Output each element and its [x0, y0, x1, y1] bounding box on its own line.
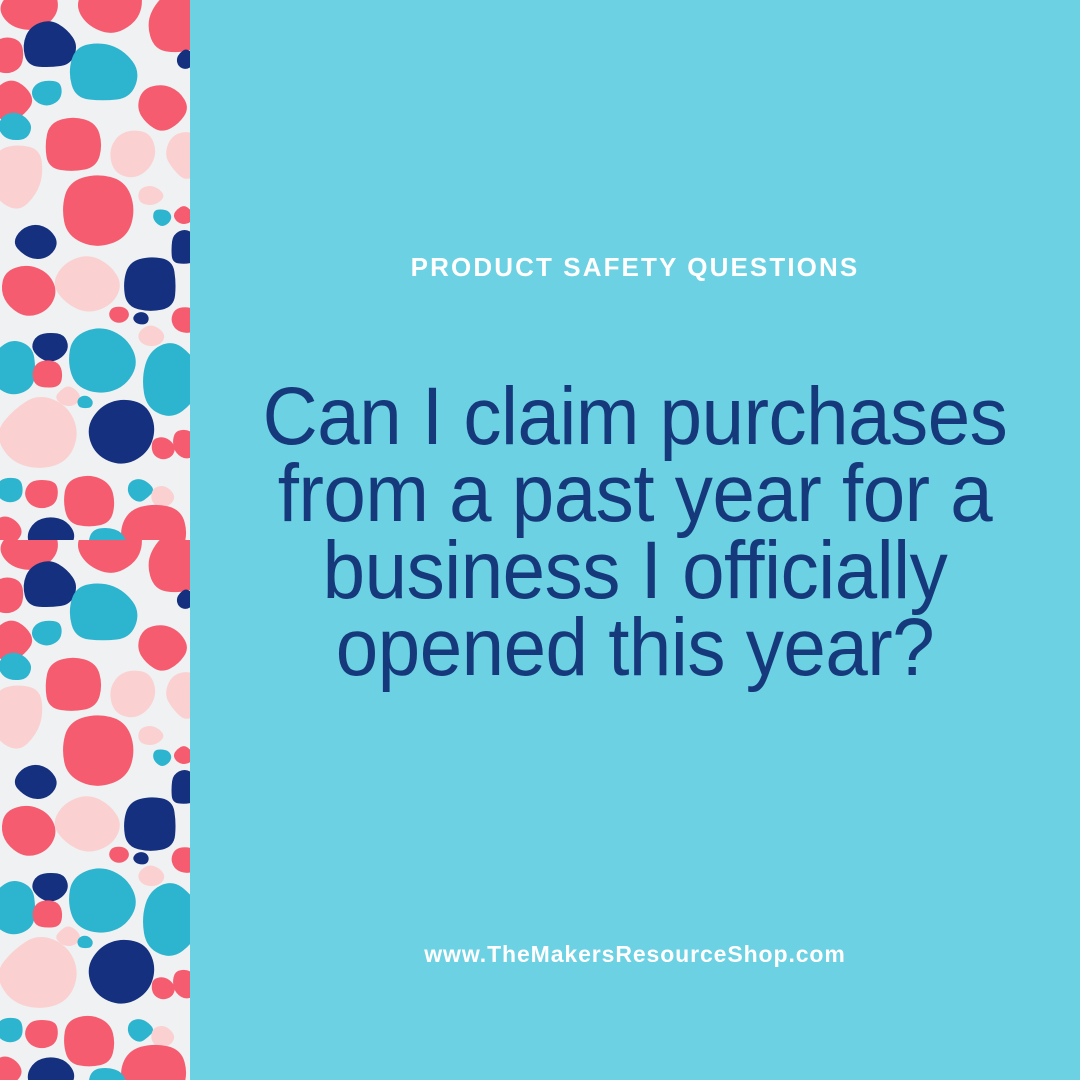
website-url-footer[interactable]: www.TheMakersResourceShop.com	[190, 940, 1080, 968]
category-eyebrow-label: PRODUCT SAFETY QUESTIONS	[190, 252, 1080, 282]
headline-line-2: from a past year for a	[240, 455, 1031, 532]
headline-line-3: business I officially	[240, 532, 1031, 609]
decorative-pattern-strip	[0, 0, 190, 1080]
headline-line-1: Can I claim purchases	[240, 378, 1031, 455]
social-post-canvas: PRODUCT SAFETY QUESTIONS Can I claim pur…	[0, 0, 1080, 1080]
pattern-tile	[0, 540, 190, 1080]
pattern-tile	[0, 0, 190, 540]
headline-question: Can I claim purchases from a past year f…	[240, 378, 1031, 686]
headline-line-4: opened this year?	[240, 609, 1031, 686]
content-column: PRODUCT SAFETY QUESTIONS Can I claim pur…	[190, 0, 1080, 1080]
